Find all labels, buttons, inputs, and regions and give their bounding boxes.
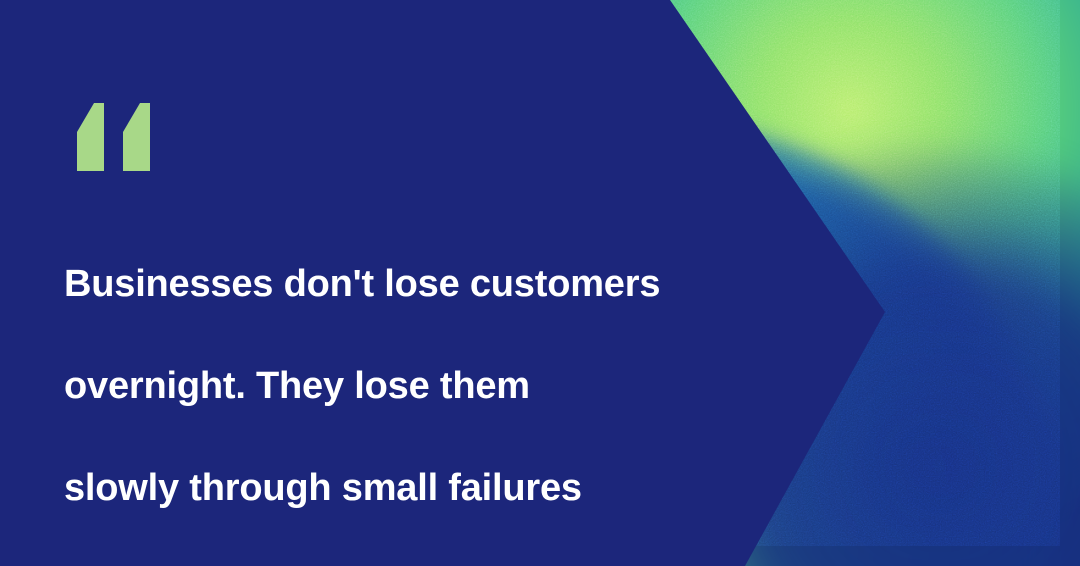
quote-line-1: Businesses don't lose customers xyxy=(64,259,704,310)
quote-mark-icon xyxy=(66,102,150,172)
quote-line-3: slowly through small failures xyxy=(64,463,704,514)
artwork-base xyxy=(660,0,1080,566)
quote-line-2: overnight. They lose them xyxy=(64,361,704,412)
gradient-artwork xyxy=(660,0,1080,566)
quote-text: Businesses don't lose customers overnigh… xyxy=(64,208,704,566)
quote-card: Businesses don't lose customers overnigh… xyxy=(0,0,1080,566)
